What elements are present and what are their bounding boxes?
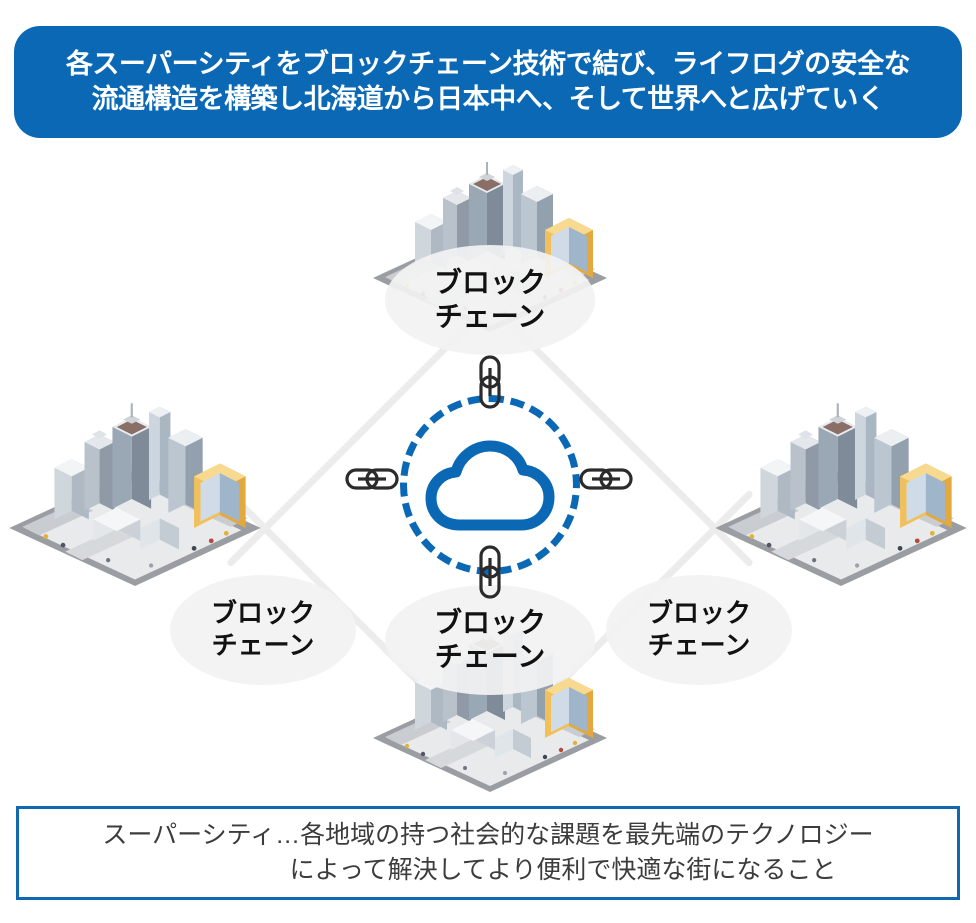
- node-top-label-line1: ブロック: [434, 266, 546, 300]
- node-top-label-line2: チェーン: [435, 300, 546, 334]
- caption-box: スーパーシティ…各地域の持つ社会的な課題を最先端のテクノロジー によって解決して…: [16, 806, 960, 900]
- isometric-city-illustration-right: [696, 390, 976, 595]
- node-bottom-label-line2: チェーン: [435, 640, 546, 674]
- node-right[interactable]: ブロック チェーン: [600, 390, 976, 590]
- node-bottom-label-line1: ブロック: [434, 606, 546, 640]
- chain-link-icon-right: [578, 459, 634, 499]
- node-right-label-line1: ブロック: [647, 598, 751, 630]
- chain-link-icon-bottom: [470, 544, 510, 600]
- node-left[interactable]: ブロック チェーン: [0, 390, 370, 590]
- isometric-city-illustration-left: [0, 390, 280, 595]
- node-bottom-label: ブロック チェーン: [385, 585, 595, 695]
- cloud-icon: [424, 435, 556, 535]
- node-bottom[interactable]: ブロック チェーン: [355, 590, 625, 800]
- header-line-1: 各スーパーシティをブロックチェーン技術で結び、ライフログの安全な: [66, 47, 910, 82]
- chain-link-icon-top: [470, 354, 510, 410]
- caption-line-2: によって解決してより便利で快適な街になること: [140, 853, 837, 889]
- node-top[interactable]: ブロック チェーン: [355, 150, 625, 340]
- node-left-label-line1: ブロック: [211, 598, 315, 630]
- header-banner: 各スーパーシティをブロックチェーン技術で結び、ライフログの安全な 流通構造を構築…: [14, 26, 962, 138]
- node-left-label-line2: チェーン: [212, 630, 315, 662]
- header-line-2: 流通構造を構築し北海道から日本中へ、そして世界へと広げていく: [92, 82, 885, 117]
- node-right-label: ブロック チェーン: [606, 575, 792, 685]
- caption-line-1: スーパーシティ…各地域の持つ社会的な課題を最先端のテクノロジー: [102, 818, 873, 854]
- network-diagram: ブロック チェーン: [0, 140, 976, 800]
- node-right-label-line2: チェーン: [648, 630, 751, 662]
- node-top-label: ブロック チェーン: [385, 245, 595, 355]
- chain-link-icon-left: [344, 459, 400, 499]
- node-left-label: ブロック チェーン: [170, 575, 356, 685]
